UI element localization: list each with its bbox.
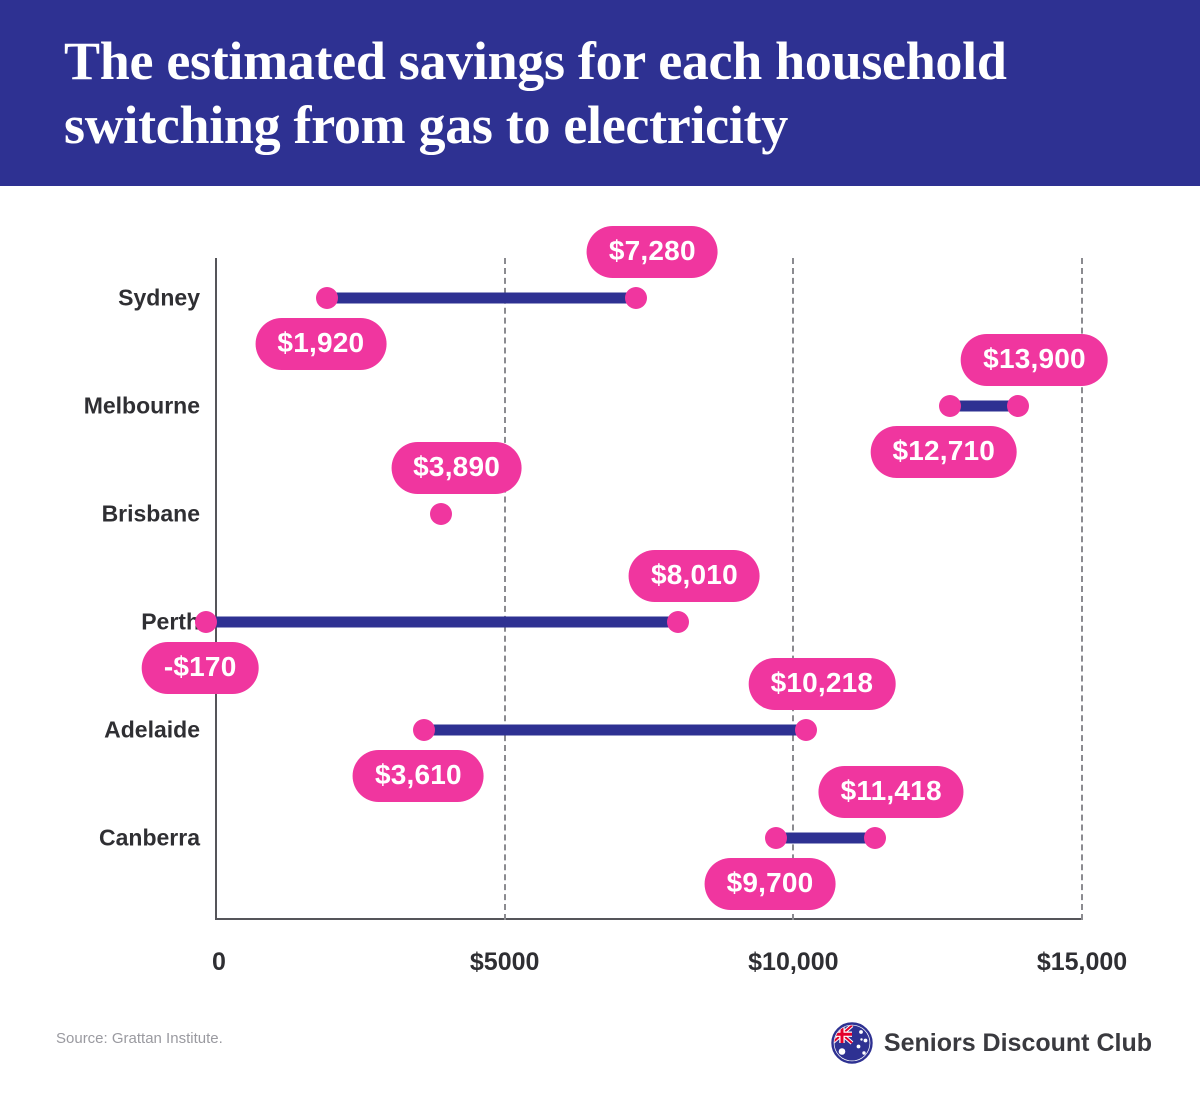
y-axis-line [215,258,217,920]
low-point-adelaide[interactable] [413,719,435,741]
point-brisbane[interactable] [430,503,452,525]
page-title-line-1: The estimated savings for each household [64,30,1154,94]
low-point-melbourne[interactable] [939,395,961,417]
x-tick-label: $10,000 [748,948,838,977]
high-point-sydney[interactable] [625,287,647,309]
low-point-canberra[interactable] [765,827,787,849]
range-line-canberra [776,833,875,844]
x-tick-label: 0 [212,948,226,977]
low-value-pill-melbourne: $12,710 [870,426,1017,478]
dumbbell-chart: SydneyMelbourneBrisbanePerthAdelaideCanb… [0,186,1200,1094]
australian-flag-circle-icon [831,1022,873,1064]
high-point-canberra[interactable] [864,827,886,849]
category-label-sydney: Sydney [10,285,200,312]
high-value-pill-sydney: $7,280 [587,226,718,278]
category-label-canberra: Canberra [10,825,200,852]
low-value-pill-adelaide: $3,610 [353,750,484,802]
gridline-10000 [792,258,794,920]
high-point-perth[interactable] [667,611,689,633]
high-point-melbourne[interactable] [1007,395,1029,417]
range-line-perth [206,617,678,628]
category-label-melbourne: Melbourne [10,393,200,420]
low-point-sydney[interactable] [316,287,338,309]
high-value-pill-perth: $8,010 [629,550,760,602]
x-tick-label: $5000 [470,948,540,977]
range-line-sydney [327,293,636,304]
low-value-pill-canberra: $9,700 [705,858,836,910]
x-tick-label: $15,000 [1037,948,1127,977]
page-title: The estimated savings for each household… [64,30,1154,157]
high-value-pill-canberra: $11,418 [819,766,964,818]
low-point-perth[interactable] [195,611,217,633]
x-axis-line [215,918,1083,920]
high-value-pill-adelaide: $10,218 [749,658,896,710]
header-banner: The estimated savings for each household… [0,0,1200,186]
category-label-brisbane: Brisbane [10,501,200,528]
range-line-adelaide [424,725,806,736]
gridline-5000 [504,258,506,920]
brand-name: Seniors Discount Club [884,1029,1152,1058]
source-note: Source: Grattan Institute. [56,1030,223,1047]
low-value-pill-perth: -$170 [142,642,259,694]
brand-lockup: Seniors Discount Club [831,1022,1152,1064]
category-label-adelaide: Adelaide [10,717,200,744]
infographic-page: The estimated savings for each household… [0,0,1200,1094]
high-value-pill-melbourne: $13,900 [961,334,1108,386]
category-label-perth: Perth [10,609,200,636]
page-title-line-2: switching from gas to electricity [64,94,1154,158]
value-pill-brisbane: $3,890 [391,442,522,494]
low-value-pill-sydney: $1,920 [255,318,386,370]
high-point-adelaide[interactable] [795,719,817,741]
